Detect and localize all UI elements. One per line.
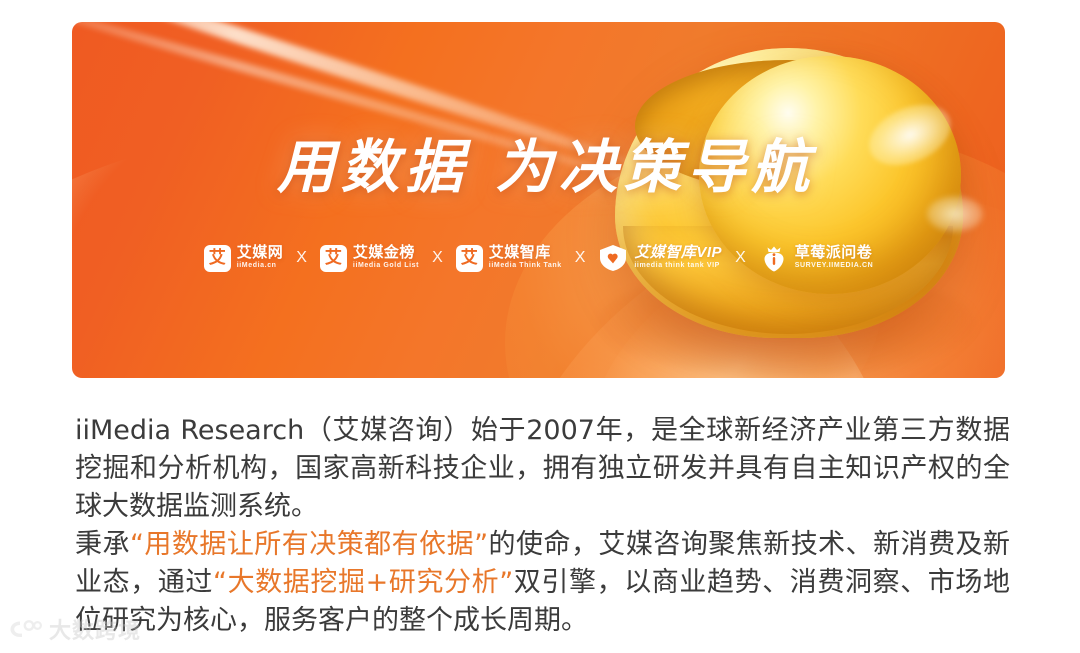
partner-logo-cn: 艾媒金榜: [353, 245, 419, 261]
logo-separator: X: [575, 250, 586, 266]
ingot-secondary-highlight: [927, 196, 983, 232]
company-description: iiMedia Research（艾媒咨询）始于2007年，是全球新经济产业第三…: [75, 412, 1010, 640]
iimedia-square-icon: 艾: [320, 245, 347, 272]
watermark: 大数跨境: [8, 618, 141, 645]
paragraph2-highlight-2: “大数据挖掘+研究分析”: [213, 567, 513, 598]
logo-separator: X: [735, 250, 746, 266]
partner-logo-en: iiMedia Think Tank: [489, 262, 562, 270]
partner-logo-cn: 艾媒智库: [489, 245, 562, 261]
partner-logo-think-tank[interactable]: 艾 艾媒智库 iiMedia Think Tank: [456, 245, 562, 272]
ingot-specular-highlight: [860, 93, 961, 177]
banner-headline: 用数据 为决策导航: [277, 120, 815, 204]
iimedia-square-icon: 艾: [456, 245, 483, 272]
partner-logo-iimedia-cn[interactable]: 艾 艾媒网 iiMedia.cn: [204, 245, 284, 272]
partner-logo-gold-list[interactable]: 艾 艾媒金榜 iiMedia Gold List: [320, 245, 419, 272]
partner-logo-cn: 艾媒网: [237, 245, 284, 261]
partner-logo-en: iimedia think tank VIP: [634, 262, 722, 270]
watermark-logo-icon: [8, 618, 42, 645]
partner-logo-strawberry-survey[interactable]: 草莓派问卷 SURVEY.IIMEDIA.CN: [759, 244, 874, 272]
description-paragraph-2: 秉承“用数据让所有决策都有依据”的使命，艾媒咨询聚焦新技术、新消费及新业态，通过…: [75, 526, 1010, 640]
partner-logo-cn: 草莓派问卷: [795, 245, 874, 261]
paragraph2-highlight-1: “用数据让所有决策都有依据”: [130, 529, 488, 560]
paragraph2-text-1: 秉承: [75, 529, 130, 560]
partner-logo-en: iiMedia.cn: [237, 262, 284, 270]
heart-shield-icon: [598, 244, 628, 272]
strawberry-icon: [759, 244, 789, 272]
description-paragraph-1: iiMedia Research（艾媒咨询）始于2007年，是全球新经济产业第三…: [75, 412, 1010, 526]
watermark-text: 大数跨境: [49, 621, 141, 643]
logo-separator: X: [432, 250, 443, 266]
partner-logo-en: SURVEY.IIMEDIA.CN: [795, 262, 874, 270]
logo-separator: X: [296, 250, 307, 266]
hero-banner: 用数据 为决策导航 艾 艾媒网 iiMedia.cn X 艾 艾媒金榜 iiMe…: [72, 22, 1005, 378]
partner-logo-cn: 艾媒智库VIP: [634, 245, 722, 261]
partner-logo-think-tank-vip[interactable]: 艾媒智库VIP iimedia think tank VIP: [598, 244, 722, 272]
partner-logo-en: iiMedia Gold List: [353, 262, 419, 270]
iimedia-square-icon: 艾: [204, 245, 231, 272]
partner-logo-row: 艾 艾媒网 iiMedia.cn X 艾 艾媒金榜 iiMedia Gold L…: [72, 244, 1005, 272]
